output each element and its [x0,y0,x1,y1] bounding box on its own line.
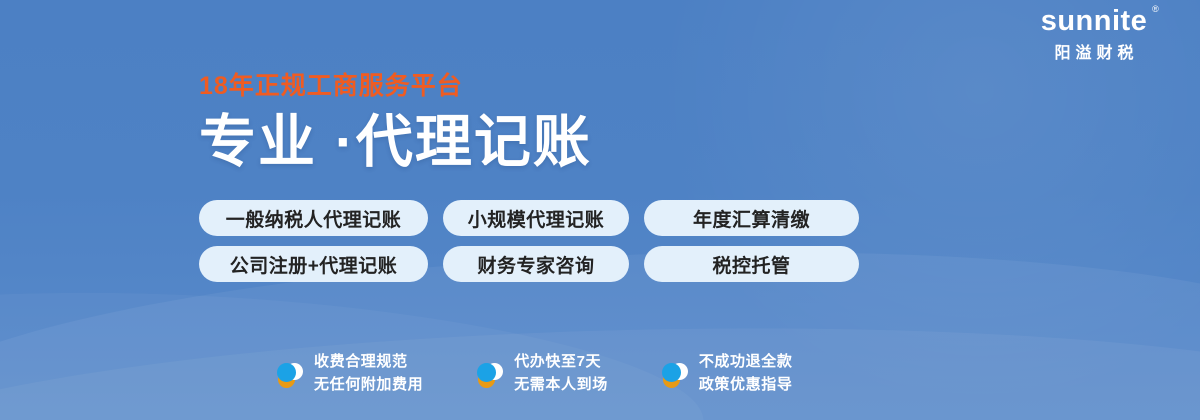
feature-line-1: 收费合理规范 [314,351,423,374]
logo-wordmark-text: sunnite [1041,5,1148,37]
logo-chinese-name: 阳溢财税 [1004,39,1184,63]
feature-item-pricing: 收费合理规范 无任何附加费用 [275,351,423,397]
service-pill-tax-control-hosting[interactable]: 税控托管 [644,246,859,282]
feature-line-1: 不成功退全款 [699,351,793,374]
feature-text-speed: 代办快至7天 无需本人到场 [514,351,608,397]
feature-strip: 收费合理规范 无任何附加费用 代办快至7天 无需本人到场 不成功退全款 [275,351,792,397]
circles-icon [660,358,690,390]
logo-wordmark: sunnite ® [1041,6,1148,36]
circles-icon [275,358,305,390]
feature-item-guarantee: 不成功退全款 政策优惠指导 [660,351,793,397]
circles-icon-cyan-part [277,363,296,382]
circles-icon-cyan-part [662,363,681,382]
headline-kicker: 18年正规工商服务平台 [199,74,592,99]
service-pill-row-2: 公司注册+代理记账 财务专家咨询 税控托管 [199,246,859,282]
feature-line-2: 无任何附加费用 [314,374,423,397]
brand-logo[interactable]: sunnite ® 阳溢财税 [1004,6,1184,63]
registered-trademark-icon: ® [1152,5,1159,14]
promotional-banner: sunnite ® 阳溢财税 18年正规工商服务平台 专业 ·代理记账 一般纳税… [0,0,1200,420]
feature-text-pricing: 收费合理规范 无任何附加费用 [314,351,423,397]
service-pill-small-scale[interactable]: 小规模代理记账 [443,200,629,236]
page-title: 专业 ·代理记账 [199,112,592,174]
feature-line-2: 政策优惠指导 [699,374,793,397]
feature-item-speed: 代办快至7天 无需本人到场 [475,351,608,397]
circles-icon [475,358,505,390]
service-pill-group: 一般纳税人代理记账 小规模代理记账 年度汇算清缴 公司注册+代理记账 财务专家咨… [199,200,859,292]
feature-text-guarantee: 不成功退全款 政策优惠指导 [699,351,793,397]
service-pill-general-taxpayer[interactable]: 一般纳税人代理记账 [199,200,428,236]
headline-block: 18年正规工商服务平台 专业 ·代理记账 [199,74,592,174]
service-pill-company-registration[interactable]: 公司注册+代理记账 [199,246,428,282]
feature-line-2: 无需本人到场 [514,374,608,397]
service-pill-annual-settlement[interactable]: 年度汇算清缴 [644,200,859,236]
service-pill-expert-consulting[interactable]: 财务专家咨询 [443,246,629,282]
circles-icon-cyan-part [477,363,496,382]
service-pill-row-1: 一般纳税人代理记账 小规模代理记账 年度汇算清缴 [199,200,859,236]
feature-line-1: 代办快至7天 [514,351,608,374]
